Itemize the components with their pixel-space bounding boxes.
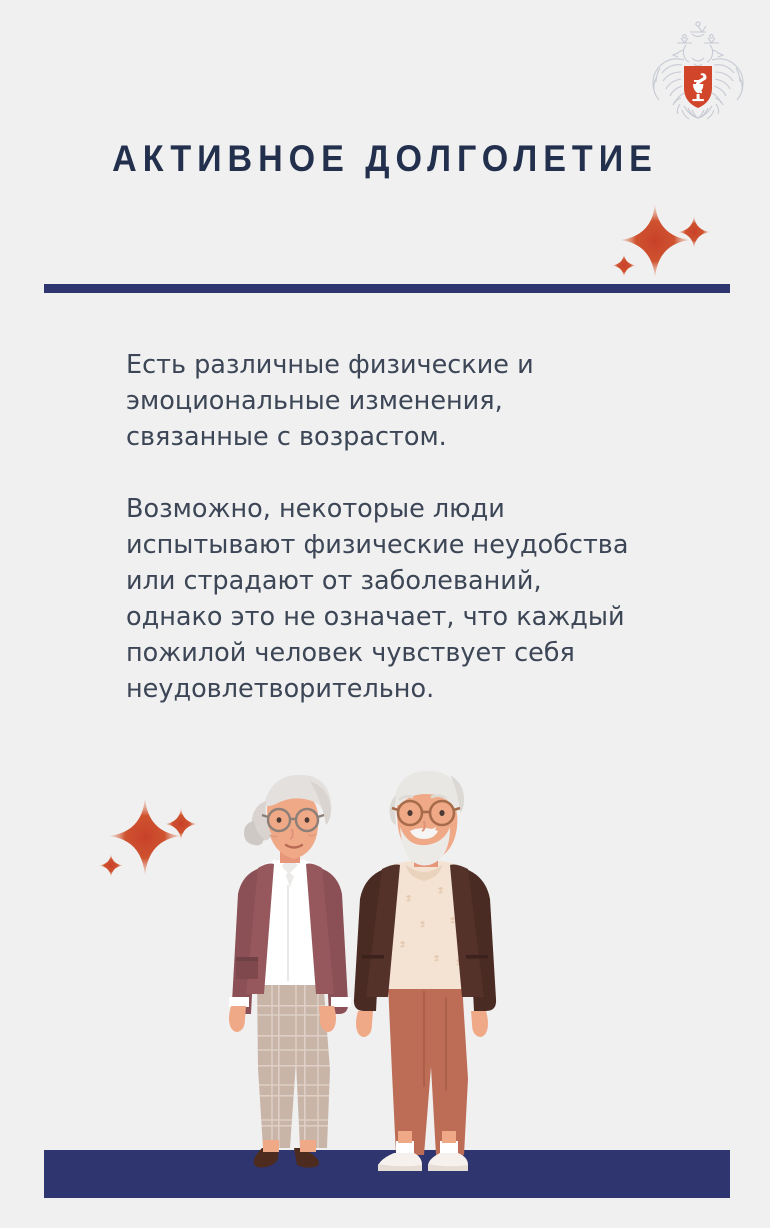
sparkle-cluster-icon-top-right <box>598 192 728 292</box>
paragraph-2: Возможно, некоторые люди испытывают физи… <box>126 491 646 707</box>
page-title: АКТИВНОЕ ДОЛГОЛЕТИЕ <box>31 138 739 180</box>
body-copy: Есть различные физические и эмоциональны… <box>126 347 646 707</box>
roszdravnadzor-emblem-icon <box>648 18 748 130</box>
paragraph-1: Есть различные физические и эмоциональны… <box>126 347 646 455</box>
divider-bar-top <box>44 284 730 293</box>
elderly-couple-illustration <box>200 765 560 1185</box>
poster-canvas: АКТИВНОЕ ДОЛГОЛЕТИЕ Есть различные физич… <box>0 0 770 1228</box>
